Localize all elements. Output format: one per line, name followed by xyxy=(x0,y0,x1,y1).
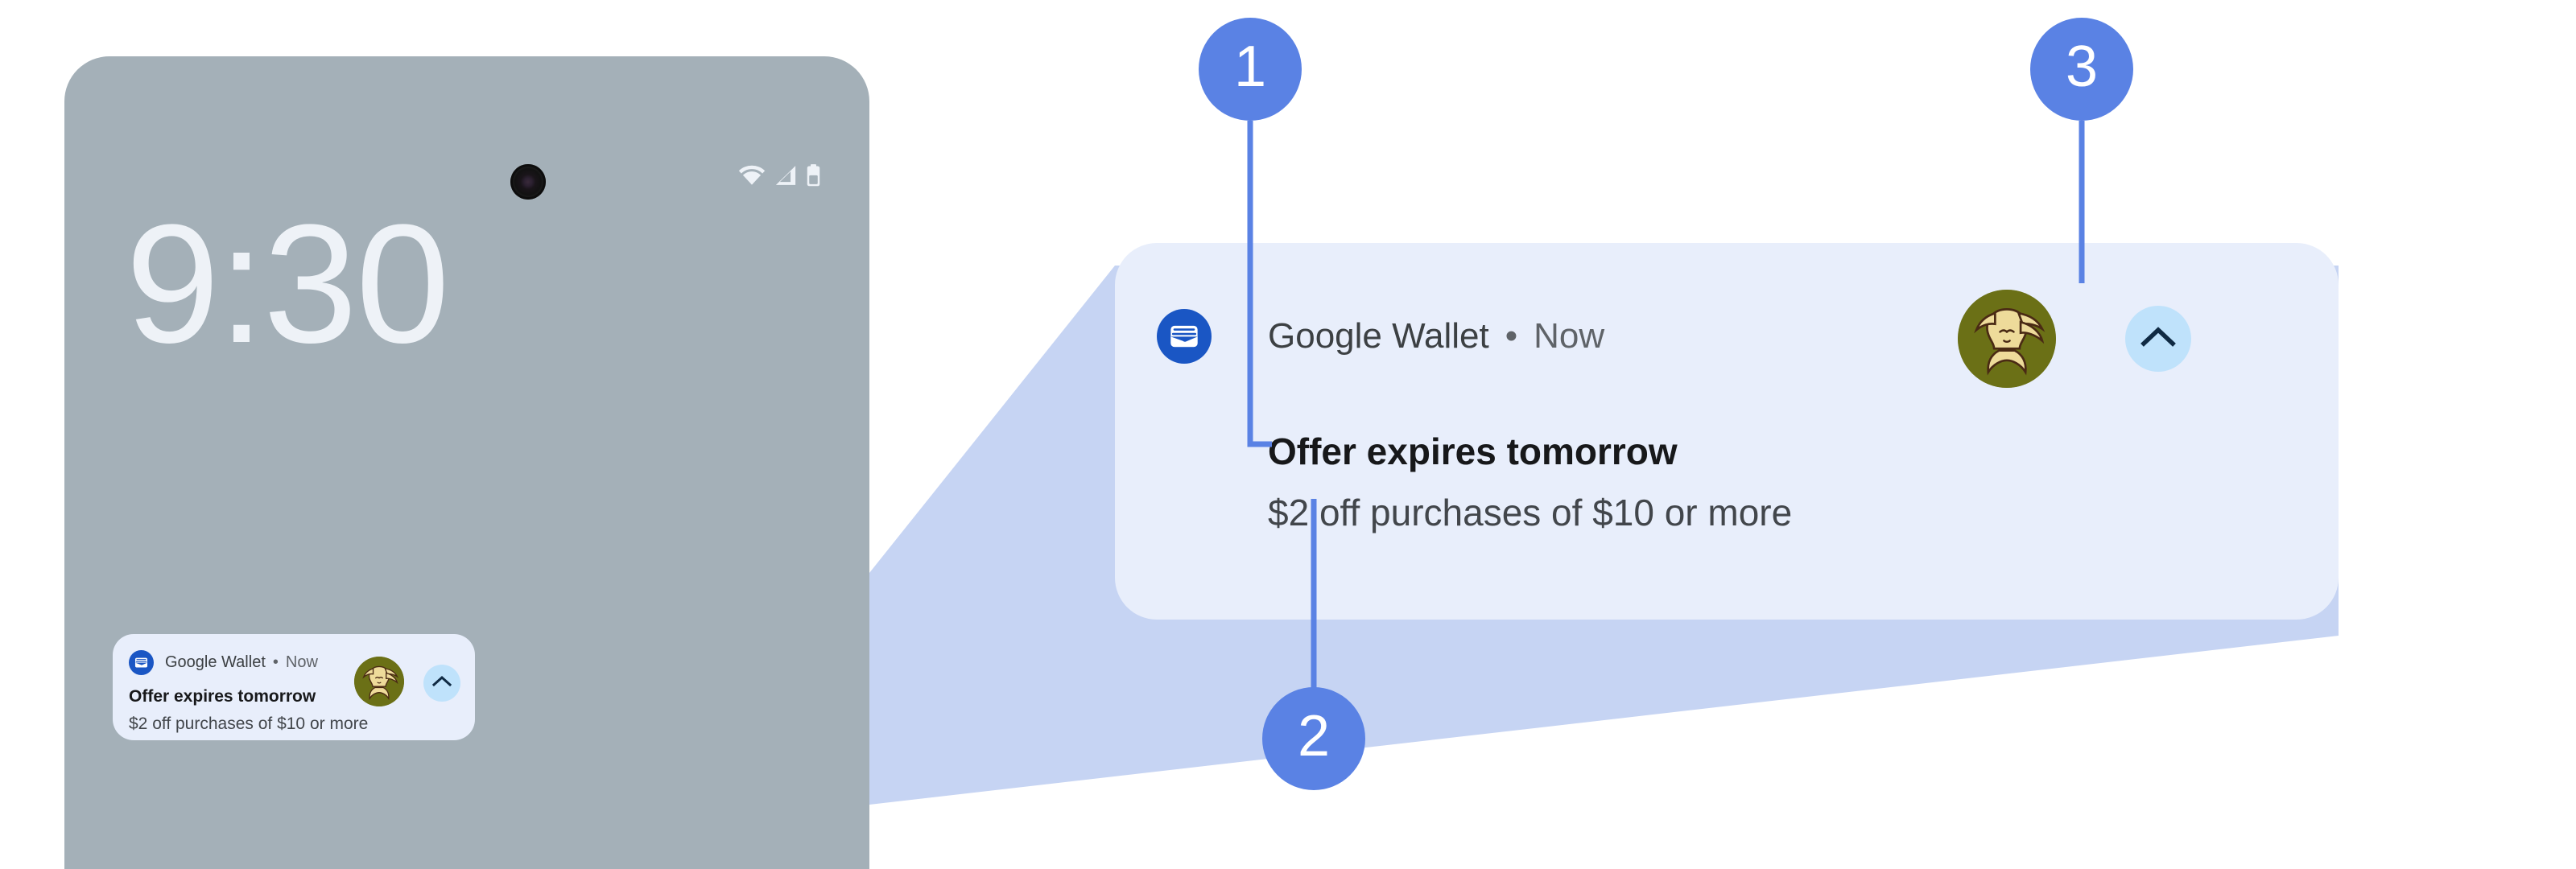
merchant-mermaid-logo xyxy=(354,657,404,706)
callout-badge-number: 2 xyxy=(1298,707,1330,765)
merchant-mermaid-logo xyxy=(1958,290,2056,388)
notification-title: Offer expires tomorrow xyxy=(1268,430,1678,473)
notification-app-name: Google Wallet xyxy=(1268,316,1489,356)
chevron-up-icon xyxy=(2140,326,2176,352)
notification-body: $2 off purchases of $10 or more xyxy=(1268,491,1792,534)
phone-mockup: 9:30 Google Wallet • Now Offer expires t xyxy=(64,56,869,869)
notification-card-small[interactable]: Google Wallet • Now Offer expires tomorr… xyxy=(113,634,475,740)
notification-header-enlarged: Google Wallet • Now xyxy=(1268,312,1604,360)
callout-badge-number: 1 xyxy=(1234,38,1266,96)
notification-body: $2 off purchases of $10 or more xyxy=(129,715,459,734)
battery-icon xyxy=(806,164,821,187)
callout-badge-3[interactable]: 3 xyxy=(2030,18,2133,121)
callout-badge-1[interactable]: 1 xyxy=(1199,18,1302,121)
callout-badge-number: 3 xyxy=(2066,38,2098,96)
separator-dot: • xyxy=(273,653,279,672)
notification-expand-button[interactable] xyxy=(2125,306,2191,372)
screenshot-stage: 9:30 Google Wallet • Now Offer expires t xyxy=(0,0,2576,863)
notification-app-name: Google Wallet xyxy=(165,653,266,672)
notification-title: Offer expires tomorrow xyxy=(129,687,459,706)
wifi-icon xyxy=(738,165,766,186)
callout-badge-2[interactable]: 2 xyxy=(1262,687,1365,790)
lock-screen-clock: 9:30 xyxy=(126,200,448,369)
notification-time: Now xyxy=(286,653,318,672)
notification-card-enlarged[interactable]: Google Wallet • Now Offer expires tomorr… xyxy=(1115,243,2339,620)
google-wallet-icon xyxy=(129,650,154,675)
front-camera-punch-hole xyxy=(510,164,546,200)
notification-time: Now xyxy=(1534,316,1604,356)
google-wallet-icon xyxy=(1157,309,1212,364)
separator-dot: • xyxy=(1505,316,1517,356)
status-bar xyxy=(738,164,821,187)
notification-header-small: Google Wallet • Now xyxy=(129,649,459,676)
chevron-up-icon xyxy=(432,675,452,691)
cellular-signal-icon xyxy=(774,165,798,186)
notification-expand-button[interactable] xyxy=(423,665,460,702)
